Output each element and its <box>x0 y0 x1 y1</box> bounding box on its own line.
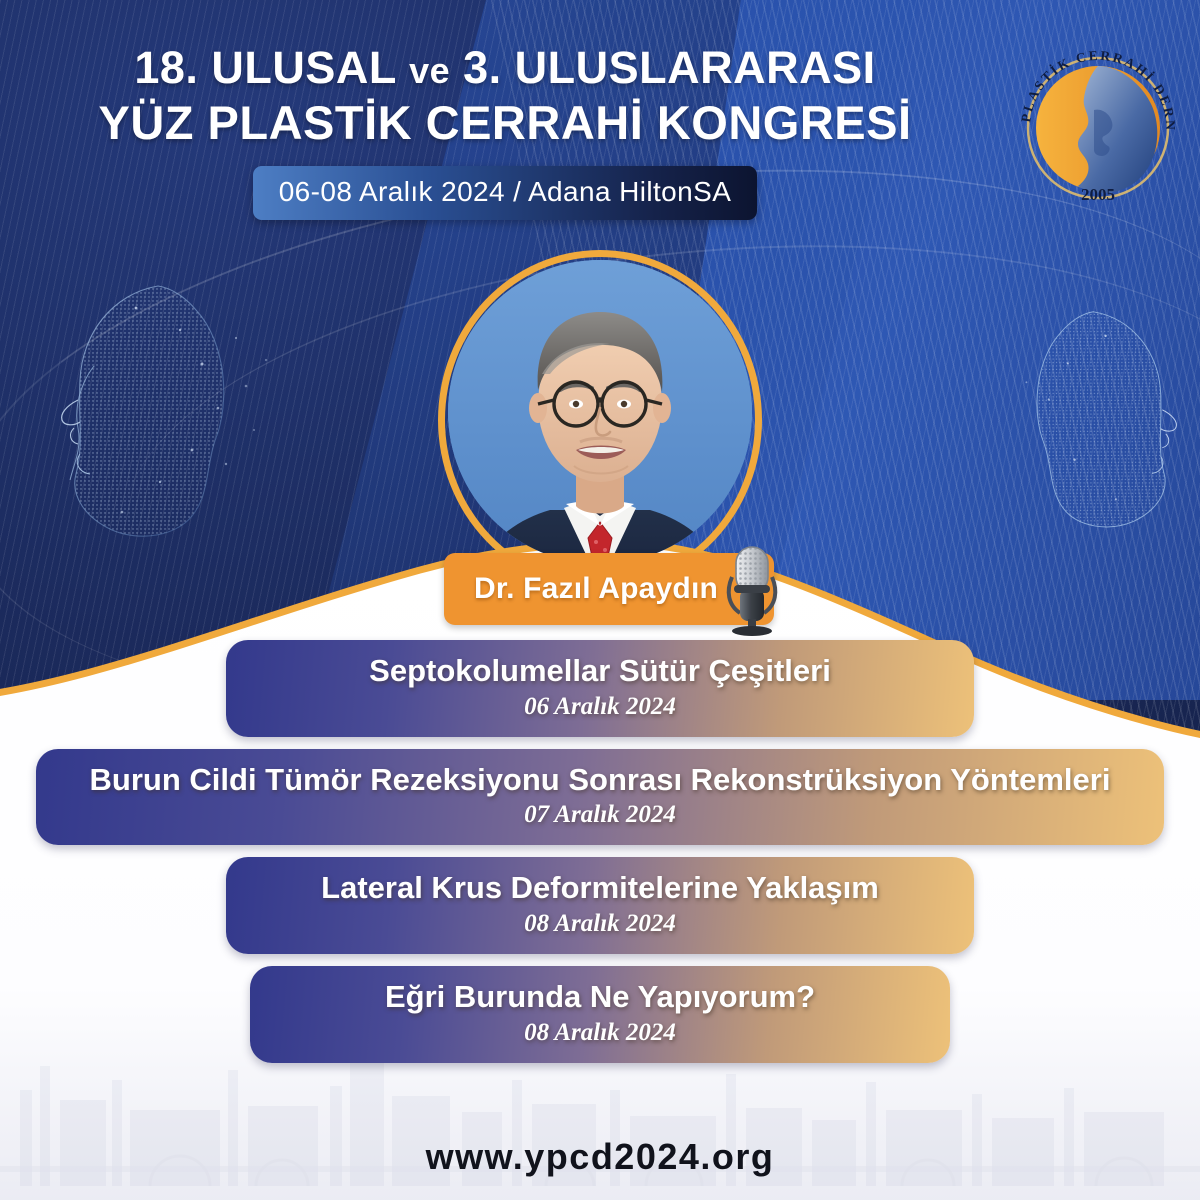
portrait-ring <box>438 250 762 590</box>
title-line1-tail: 3. ULUSLARARASI <box>463 42 876 93</box>
topic-title: Burun Cildi Tümör Rezeksiyonu Sonrası Re… <box>62 763 1138 798</box>
topic-card: Septokolumellar Sütür Çeşitleri 06 Aralı… <box>226 640 974 737</box>
date-venue-badge: 06-08 Aralık 2024 / Adana HiltonSA <box>253 166 758 220</box>
topic-card-list: Septokolumellar Sütür Çeşitleri 06 Aralı… <box>0 640 1200 1075</box>
title-line1-conjunction: ve <box>409 50 450 91</box>
logo-year: 2005 <box>1081 185 1115 204</box>
title-line1-main: 18. ULUSAL <box>134 42 396 93</box>
topic-card: Lateral Krus Deformitelerine Yaklaşım 08… <box>226 857 974 954</box>
microphone-icon <box>718 541 786 637</box>
topic-title: Eğri Burunda Ne Yapıyorum? <box>276 980 924 1015</box>
topic-card: Burun Cildi Tümör Rezeksiyonu Sonrası Re… <box>36 749 1164 846</box>
association-logo: YÜZ PLASTİK CERRAHİ DERNEĞİ 2005 <box>1008 38 1188 218</box>
speaker-name-badge: Dr. Fazıl Apaydın <box>444 553 774 625</box>
topic-date: 07 Aralık 2024 <box>62 801 1138 829</box>
topic-date: 06 Aralık 2024 <box>252 693 948 721</box>
topic-date: 08 Aralık 2024 <box>252 910 948 938</box>
poster-header: 18. ULUSAL ve 3. ULUSLARARASI YÜZ PLASTİ… <box>0 44 1010 220</box>
topic-title: Septokolumellar Sütür Çeşitleri <box>252 654 948 689</box>
poster-footer: www.ypcd2024.org <box>0 1136 1200 1178</box>
topic-title: Lateral Krus Deformitelerine Yaklaşım <box>252 871 948 906</box>
speaker-portrait-frame <box>438 250 762 590</box>
topic-card: Eğri Burunda Ne Yapıyorum? 08 Aralık 202… <box>250 966 950 1063</box>
title-line-2: YÜZ PLASTİK CERRAHİ KONGRESİ <box>0 98 1010 148</box>
congress-poster: 18. ULUSAL ve 3. ULUSLARARASI YÜZ PLASTİ… <box>0 0 1200 1200</box>
website-url[interactable]: www.ypcd2024.org <box>426 1136 775 1177</box>
topic-date: 08 Aralık 2024 <box>276 1019 924 1047</box>
title-line-1: 18. ULUSAL ve 3. ULUSLARARASI <box>0 44 1010 92</box>
speaker-name: Dr. Fazıl Apaydın <box>474 572 718 606</box>
